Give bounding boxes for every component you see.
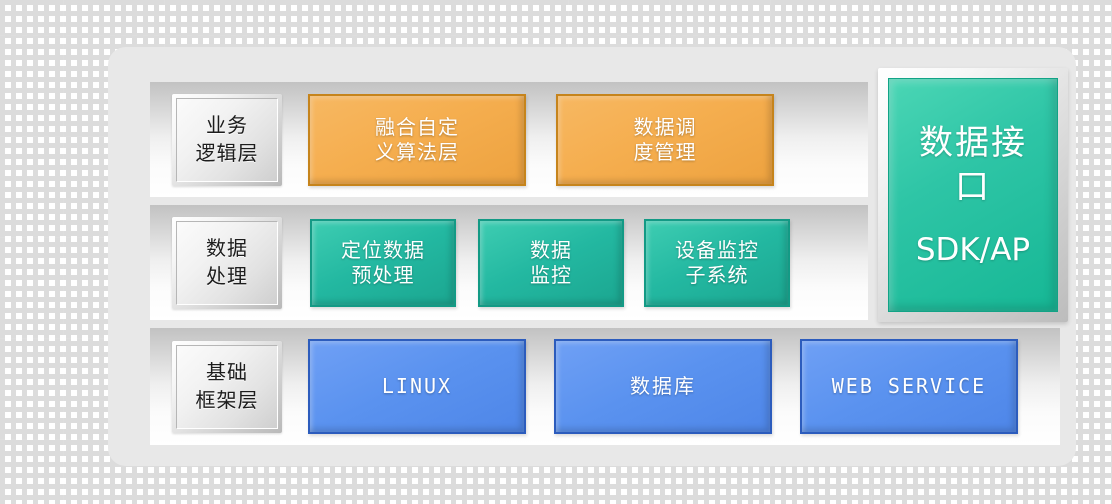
module-data-monitor-line2: 监控 — [530, 263, 572, 288]
module-group-data-processing: 定位数据 预处理 数据 监控 设备监控 子系统 — [282, 205, 868, 320]
panel-data-interface-subtitle: SDK/AP — [916, 232, 1030, 268]
module-fusion-algorithm-line2: 义算法层 — [375, 140, 459, 165]
module-group-base-framework: LINUX 数据库 WEB SERVICE — [282, 328, 1060, 445]
panel-data-interface-title-line2: 口 — [919, 166, 1027, 210]
module-device-monitor-subsystem-line2: 子系统 — [686, 263, 749, 288]
layer-label-base-framework-line2: 框架层 — [196, 389, 259, 413]
module-locate-preprocess[interactable]: 定位数据 预处理 — [310, 219, 456, 307]
module-linux[interactable]: LINUX — [308, 339, 526, 434]
layer-label-business: 业务 逻辑层 — [172, 94, 282, 186]
layer-label-data-processing: 数据 处理 — [172, 217, 282, 309]
module-locate-preprocess-line2: 预处理 — [352, 263, 415, 288]
layer-label-business-line1: 业务 — [206, 114, 248, 138]
module-database[interactable]: 数据库 — [554, 339, 772, 434]
module-web-service-label: WEB SERVICE — [832, 374, 986, 399]
layer-label-base-framework-line1: 基础 — [206, 361, 248, 385]
layer-row-base-framework: 基础 框架层 LINUX 数据库 WEB SERVICE — [150, 328, 1060, 445]
module-data-schedule-line2: 度管理 — [634, 140, 697, 165]
module-device-monitor-subsystem-line1: 设备监控 — [675, 238, 759, 263]
layer-label-business-line2: 逻辑层 — [196, 142, 259, 166]
module-fusion-algorithm[interactable]: 融合自定 义算法层 — [308, 94, 526, 186]
module-data-monitor-line1: 数据 — [530, 238, 572, 263]
module-web-service[interactable]: WEB SERVICE — [800, 339, 1018, 434]
layer-label-data-processing-line2: 处理 — [206, 265, 248, 289]
module-data-schedule[interactable]: 数据调 度管理 — [556, 94, 774, 186]
module-locate-preprocess-line1: 定位数据 — [341, 238, 425, 263]
module-data-schedule-line1: 数据调 — [634, 115, 697, 140]
panel-data-interface-title-line1: 数据接 — [919, 122, 1027, 166]
layer-row-data-processing: 数据 处理 定位数据 预处理 数据 监控 设备监控 子系统 — [150, 205, 868, 320]
layer-label-data-processing-line1: 数据 — [206, 237, 248, 261]
module-group-business: 融合自定 义算法层 数据调 度管理 — [282, 82, 868, 197]
panel-data-interface-title: 数据接 口 — [913, 122, 1033, 209]
layer-label-base-framework: 基础 框架层 — [172, 341, 282, 433]
module-database-label: 数据库 — [630, 374, 696, 399]
module-data-monitor[interactable]: 数据 监控 — [478, 219, 624, 307]
architecture-diagram: 业务 逻辑层 融合自定 义算法层 数据调 度管理 数据 处理 定位数据 — [108, 47, 1076, 466]
module-fusion-algorithm-line1: 融合自定 — [375, 115, 459, 140]
module-linux-label: LINUX — [382, 374, 452, 399]
layer-row-business: 业务 逻辑层 融合自定 义算法层 数据调 度管理 — [150, 82, 868, 197]
panel-data-interface[interactable]: 数据接 口 SDK/AP — [878, 68, 1068, 322]
module-device-monitor-subsystem[interactable]: 设备监控 子系统 — [644, 219, 790, 307]
